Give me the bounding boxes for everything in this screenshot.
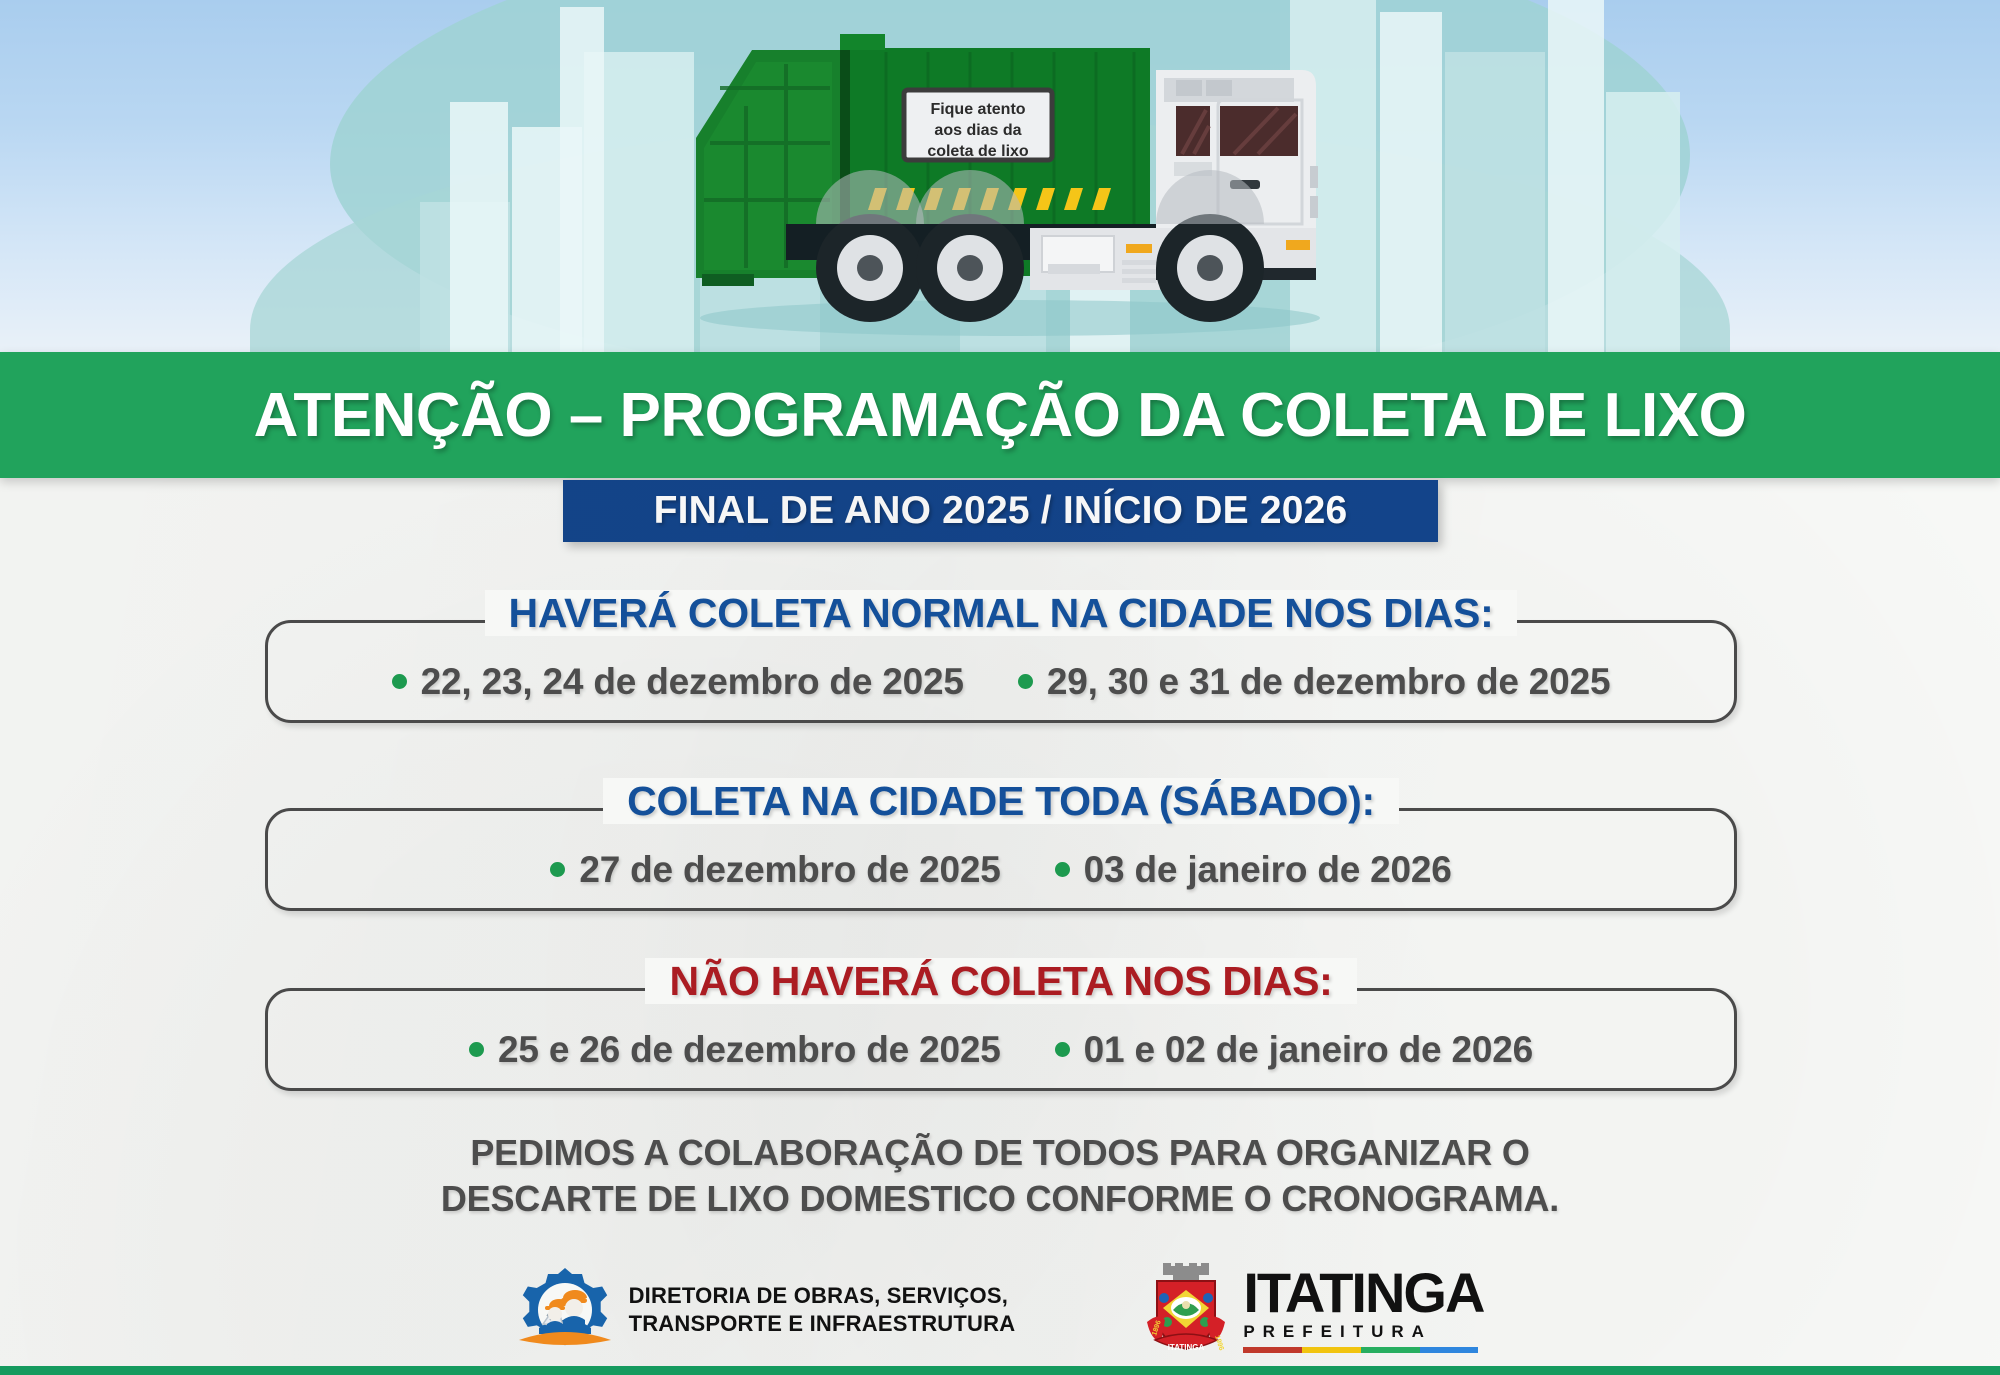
diretoria-line-1: DIRETORIA DE OBRAS, SERVIÇOS, [629, 1282, 1016, 1310]
bottom-green-strip [0, 1366, 2000, 1375]
garbage-truck-icon: Fique atento aos dias da coleta de lixo [690, 28, 1330, 328]
footer-logos: DIRETORIA DE OBRAS, SERVIÇOS, TRANSPORTE… [0, 1255, 2000, 1365]
subtitle-banner: FINAL DE ANO 2025 / INÍCIO DE 2026 [563, 480, 1438, 542]
page-title: ATENÇÃO – PROGRAMAÇÃO DA COLETA DE LIXO [0, 352, 2000, 478]
poster-root: Fique atento aos dias da coleta de lixo [0, 0, 2000, 1375]
diretoria-line-2: TRANSPORTE E INFRAESTRUTURA [629, 1310, 1016, 1338]
section-items: 27 de dezembro de 2025 03 de janeiro de … [265, 808, 1737, 911]
itatinga-color-bar [1243, 1347, 1478, 1353]
section-items: 25 e 26 de dezembro de 2025 01 e 02 de j… [265, 988, 1737, 1091]
bullet-dot-icon [469, 1042, 484, 1057]
closing-line-1: PEDIMOS A COLABORAÇÃO DE TODOS PARA ORGA… [0, 1130, 2000, 1176]
closing-message: PEDIMOS A COLABORAÇÃO DE TODOS PARA ORGA… [0, 1130, 2000, 1222]
subtitle-text: FINAL DE ANO 2025 / INÍCIO DE 2026 [654, 489, 1348, 533]
itatinga-wordmark: ITATINGA [1243, 1267, 1483, 1320]
bullet-dot-icon [1055, 1042, 1070, 1057]
bullet-dot-icon [1018, 674, 1033, 689]
svg-text:aos dias da: aos dias da [934, 122, 1021, 139]
closing-line-2: DESCARTE DE LIXO DOMESTICO CONFORME O CR… [0, 1176, 2000, 1222]
city-building [1380, 12, 1442, 352]
svg-text:coleta de lixo: coleta de lixo [927, 143, 1029, 160]
list-item: 29, 30 e 31 de dezembro de 2025 [1018, 661, 1611, 703]
bullet-dot-icon [1055, 862, 1070, 877]
city-building [1445, 52, 1545, 352]
list-item: 01 e 02 de janeiro de 2026 [1055, 1029, 1533, 1071]
gear-workers-icon [517, 1262, 613, 1358]
hero-illustration: Fique atento aos dias da coleta de lixo [0, 0, 2000, 352]
city-building [1606, 92, 1680, 352]
svg-text:Fique atento: Fique atento [930, 101, 1025, 118]
list-item: 27 de dezembro de 2025 [550, 849, 1000, 891]
logo-diretoria-obras: DIRETORIA DE OBRAS, SERVIÇOS, TRANSPORTE… [517, 1262, 1016, 1358]
section-items: 22, 23, 24 de dezembro de 2025 29, 30 e … [265, 620, 1737, 723]
city-building [450, 102, 508, 352]
logo-itatinga-text: ITATINGA PREFEITURA [1243, 1267, 1483, 1353]
list-item: 25 e 26 de dezembro de 2025 [469, 1029, 1001, 1071]
city-coat-of-arms-icon: ITATINGA 1896 1996 [1145, 1260, 1227, 1360]
bullet-dot-icon [550, 862, 565, 877]
bullet-dot-icon [392, 674, 407, 689]
list-item: 22, 23, 24 de dezembro de 2025 [392, 661, 964, 703]
main-title-band: ATENÇÃO – PROGRAMAÇÃO DA COLETA DE LIXO [0, 352, 2000, 478]
logo-diretoria-text: DIRETORIA DE OBRAS, SERVIÇOS, TRANSPORTE… [629, 1282, 1016, 1338]
city-building [560, 7, 604, 352]
list-item: 03 de janeiro de 2026 [1055, 849, 1452, 891]
city-building [1548, 0, 1604, 352]
logo-prefeitura-itatinga: ITATINGA 1896 1996 ITATINGA PREFEITURA [1145, 1260, 1483, 1360]
crest-name: ITATINGA [1168, 1343, 1205, 1352]
crest-year-right: 1996 [1213, 1334, 1225, 1351]
itatinga-subtitle: PREFEITURA [1243, 1322, 1483, 1342]
